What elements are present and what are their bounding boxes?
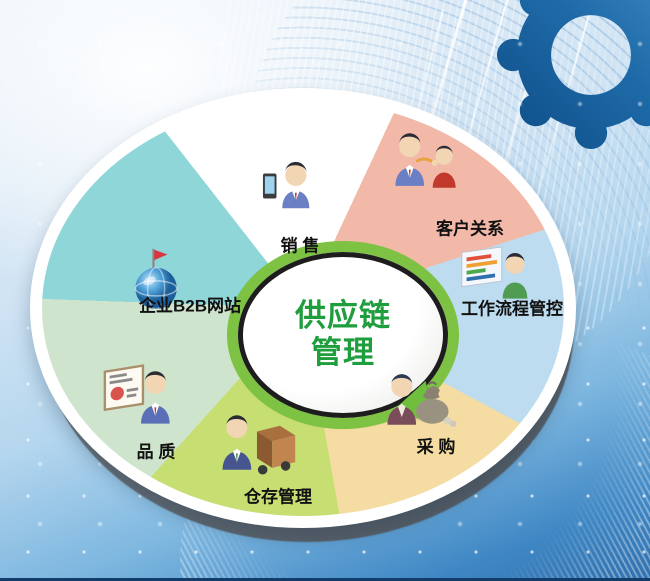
person-certificate-icon bbox=[102, 362, 182, 428]
diagram-canvas: 供应链 管理 销 售 bbox=[0, 0, 650, 581]
person-boxes-icon bbox=[213, 410, 299, 476]
label-b2b: 企业B2B网站 bbox=[139, 292, 241, 317]
label-workflow: 工作流程管控 bbox=[461, 295, 563, 320]
person-moneybag-icon bbox=[377, 367, 459, 429]
label-sales: 销 售 bbox=[281, 232, 320, 257]
label-crm: 客户关系 bbox=[436, 215, 504, 240]
label-warehouse: 仓存管理 bbox=[244, 483, 312, 508]
two-people-handshake-icon bbox=[383, 130, 469, 192]
center-label-line1: 供应链 bbox=[295, 298, 391, 335]
label-quality: 品 质 bbox=[137, 438, 176, 463]
label-purchasing: 采 购 bbox=[417, 433, 456, 458]
supply-chain-wheel: 供应链 管理 销 售 bbox=[18, 78, 588, 543]
salesperson-phone-icon bbox=[259, 158, 321, 214]
center-label-line2: 管理 bbox=[311, 335, 375, 372]
